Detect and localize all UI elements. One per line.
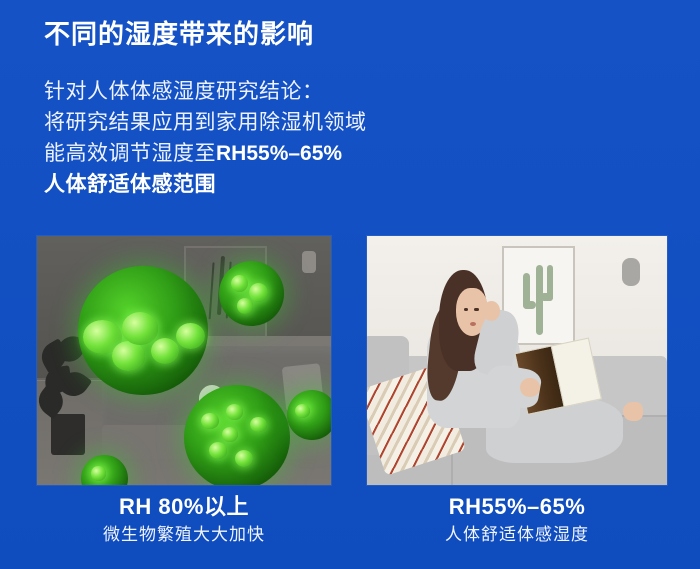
wall-switch <box>302 251 317 273</box>
microbe-bump <box>235 450 253 467</box>
photo-high-humidity <box>37 236 331 485</box>
intro-line-4: 人体舒适体感范围 <box>44 169 367 200</box>
caption-main-label: RH55%–65% <box>367 492 667 522</box>
foot <box>623 402 643 422</box>
caption-main-label: RH 80%以上 <box>37 492 331 522</box>
caption-sub-label: 微生物繁殖大大加快 <box>37 522 331 548</box>
dim-living-room-scene <box>37 236 331 485</box>
intro-line-2: 将研究结果应用到家用除湿机领域 <box>44 107 367 138</box>
page-title: 不同的湿度带来的影响 <box>44 16 314 52</box>
microbe-bump <box>249 283 268 302</box>
intro-line-3-prefix: 能高效调节湿度至 <box>44 142 216 165</box>
woman-reading <box>397 266 643 485</box>
photo-row <box>0 236 700 486</box>
caption-sub-label: 人体舒适体感湿度 <box>367 522 667 548</box>
microbe-icon <box>78 266 207 395</box>
microbe-bump <box>209 442 227 459</box>
plant-pot <box>51 414 85 455</box>
microbe-bump <box>250 417 267 433</box>
humidity-comparison-poster: 不同的湿度带来的影响 针对人体体感湿度研究结论： 将研究结果应用到家用除湿机领域… <box>0 0 700 569</box>
bright-living-room-scene <box>367 236 667 485</box>
microbe-bump <box>91 466 105 480</box>
microbe-bump <box>295 404 310 418</box>
eye <box>474 308 479 311</box>
microbe-bump <box>201 413 219 430</box>
intro-line-3: 能高效调节湿度至RH55%–65% <box>44 138 367 169</box>
humidity-range-value: RH55%–65% <box>216 142 342 165</box>
microbe-bump <box>112 341 146 371</box>
microbe-icon <box>184 385 290 485</box>
microbe-bump <box>176 323 204 349</box>
photo-comfort-humidity <box>367 236 667 485</box>
intro-line-1: 针对人体体感湿度研究结论： <box>44 76 367 107</box>
intro-paragraph: 针对人体体感湿度研究结论： 将研究结果应用到家用除湿机领域 能高效调节湿度至RH… <box>44 76 367 200</box>
microbe-bump <box>237 298 253 314</box>
microbe-bump <box>151 338 179 364</box>
hand-on-forehead <box>483 301 500 321</box>
microbe-icon <box>219 261 284 326</box>
microbe-bump <box>231 275 248 292</box>
caption-high-humidity: RH 80%以上 微生物繁殖大大加快 <box>37 492 331 548</box>
microbe-icon <box>287 390 331 440</box>
caption-comfort-humidity: RH55%–65% 人体舒适体感湿度 <box>367 492 667 548</box>
microbe-bump <box>222 427 238 442</box>
microbe-bump <box>226 404 243 420</box>
mouth <box>470 322 476 326</box>
hand-holding-book <box>520 378 540 398</box>
eye <box>464 308 469 311</box>
caption-row: RH 80%以上 微生物繁殖大大加快 RH55%–65% 人体舒适体感湿度 <box>0 492 700 562</box>
microbe-bump <box>122 312 158 344</box>
